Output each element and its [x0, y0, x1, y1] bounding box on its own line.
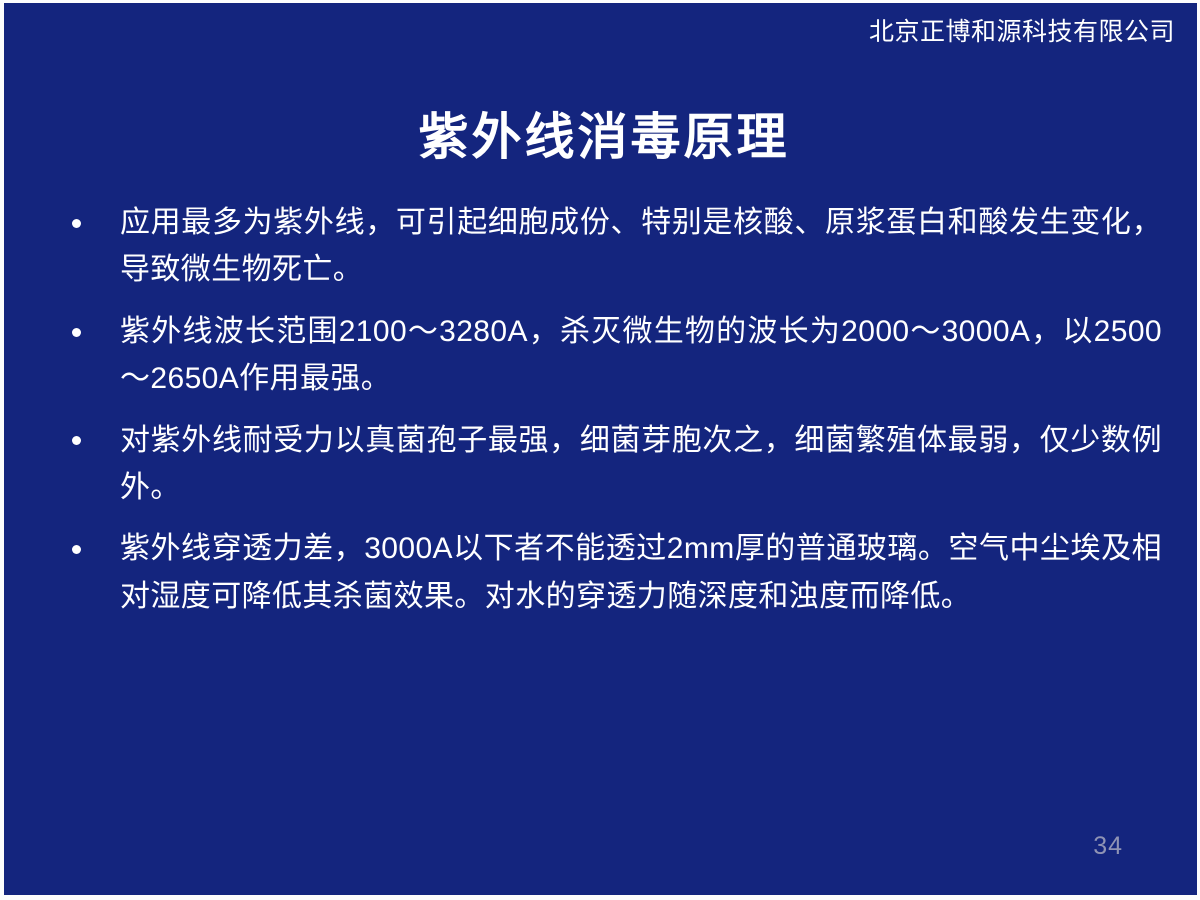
list-item: 紫外线穿透力差，3000A以下者不能透过2mm厚的普通玻璃。空气中尘埃及相对湿度…	[62, 525, 1162, 620]
slide-title: 紫外线消毒原理	[4, 109, 1200, 167]
list-item: 应用最多为紫外线，可引起细胞成份、特别是核酸、原浆蛋白和酸发生变化，导致微生物死…	[62, 199, 1162, 294]
page-number: 34	[1093, 832, 1123, 861]
bullet-dot-icon	[72, 436, 81, 445]
bullet-dot-icon	[72, 328, 81, 337]
list-item: 紫外线波长范围2100～3280A，杀灭微生物的波长为2000～3000A，以2…	[62, 308, 1162, 403]
bullet-dot-icon	[72, 219, 81, 228]
list-item: 对紫外线耐受力以真菌孢子最强，细菌芽胞次之，细菌繁殖体最弱，仅少数例外。	[62, 417, 1162, 512]
company-name-header: 北京正博和源科技有限公司	[869, 19, 1175, 47]
list-item-text: 应用最多为紫外线，可引起细胞成份、特别是核酸、原浆蛋白和酸发生变化，导致微生物死…	[120, 199, 1162, 294]
presentation-slide: 北京正博和源科技有限公司 紫外线消毒原理 应用最多为紫外线，可引起细胞成份、特别…	[0, 0, 1200, 900]
bullet-dot-icon	[72, 545, 81, 554]
list-item-text: 紫外线穿透力差，3000A以下者不能透过2mm厚的普通玻璃。空气中尘埃及相对湿度…	[120, 525, 1162, 620]
list-item-text: 紫外线波长范围2100～3280A，杀灭微生物的波长为2000～3000A，以2…	[120, 308, 1162, 403]
bullet-list: 应用最多为紫外线，可引起细胞成份、特别是核酸、原浆蛋白和酸发生变化，导致微生物死…	[62, 199, 1162, 634]
list-item-text: 对紫外线耐受力以真菌孢子最强，细菌芽胞次之，细菌繁殖体最弱，仅少数例外。	[120, 417, 1162, 512]
